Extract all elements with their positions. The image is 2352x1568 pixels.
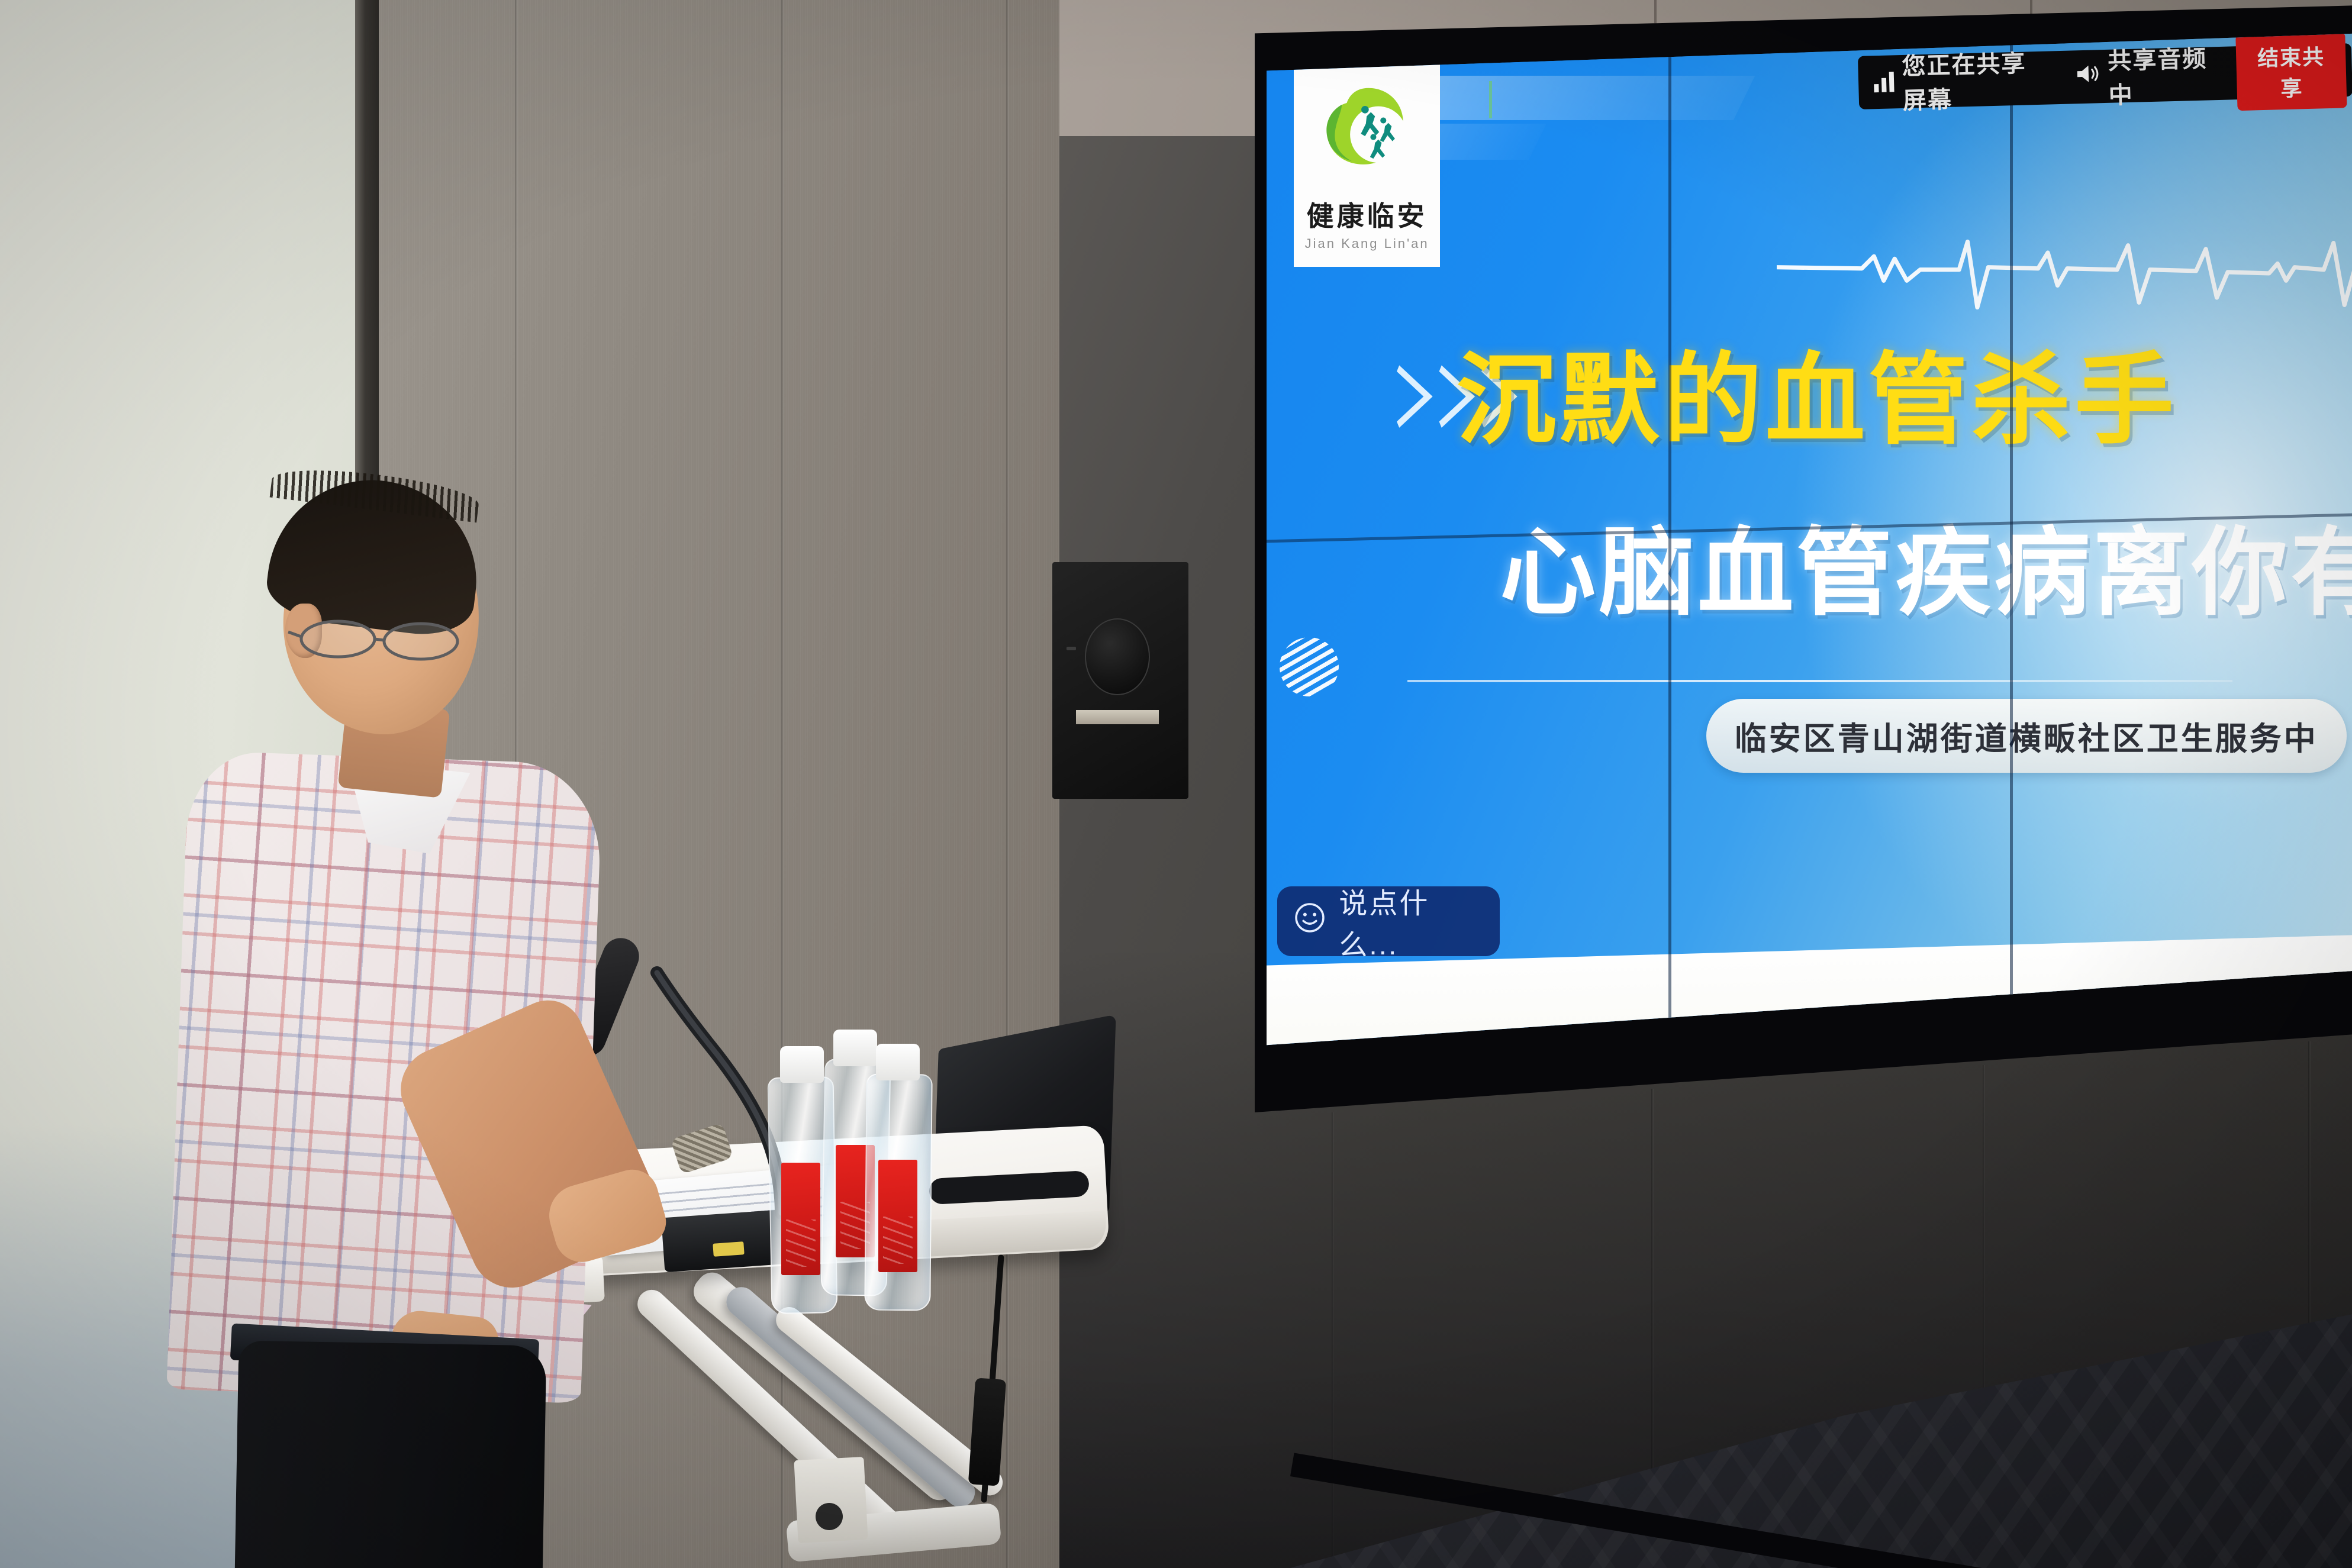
scene-root: 沉默的血管杀手 心脑血管疾病离你有多远 临安区青山湖街道横畈社区卫生服务中 说点… [0,0,2352,1568]
striped-circle-decoration [1280,637,1339,696]
screen-share-toolbar: 您正在共享屏幕 共享音频中 结束共享 [1857,43,2352,109]
bottle-cap [833,1030,877,1066]
health-leaf-people-logo-icon [1317,65,1416,192]
bottle-label [878,1160,917,1272]
videowall-seam-vertical [2010,18,2013,1077]
bottle-cap [876,1044,920,1080]
signal-bars-icon [1873,72,1894,92]
wall-seam [1006,0,1009,1568]
sharing-status-group: 您正在共享屏幕 [1873,43,2052,117]
eyeglasses-icon [287,611,482,664]
smiley-face-icon[interactable] [1294,902,1326,941]
chat-input-bubble[interactable]: 说点什么... [1277,886,1500,956]
presenter-trousers [235,1340,547,1568]
audio-status-group: 共享音频中 [2074,39,2214,111]
audio-status-label: 共享音频中 [2107,39,2214,111]
health-linan-logo: 健康临安 Jian Kang Lin'an [1294,50,1441,267]
organization-label: 临安区青山湖街道横畈社区卫生服务中 [1735,712,2318,759]
logo-name-pinyin: Jian Kang Lin'an [1305,236,1429,251]
wall-power-socket [794,1457,868,1543]
presentation-slide: 沉默的血管杀手 心脑血管疾病离你有多远 临安区青山湖街道横畈社区卫生服务中 说点… [1267,18,2352,1077]
chat-placeholder-text: 说点什么... [1339,880,1483,963]
videowall-seam-vertical [1668,18,1671,1077]
slide-decor-tick [1489,81,1492,118]
organization-pill: 临安区青山湖街道横畈社区卫生服务中 [1706,699,2347,773]
slide-divider-line [1407,680,2232,682]
logo-name-cn: 健康临安 [1307,195,1428,234]
speaker-icon [2074,63,2100,90]
slide-subtitle: 心脑血管疾病离你有多远 [1500,495,2352,634]
conference-camera-unit [1052,562,1188,799]
presenter [195,485,645,1568]
microphone-badge-icon [713,1241,744,1257]
camera-indicator-icon [1067,647,1076,650]
bottle-label [781,1163,820,1275]
sharing-status-label: 您正在共享屏幕 [1901,43,2052,116]
stop-share-button[interactable]: 结束共享 [2235,32,2347,111]
camera-label-strip [1076,710,1159,724]
socket-hole-icon [816,1503,843,1530]
camera-lens-icon [1085,618,1150,695]
video-wall-display[interactable]: 沉默的血管杀手 心脑血管疾病离你有多远 临安区青山湖街道横畈社区卫生服务中 说点… [1267,18,2352,1077]
slide-main-title: 沉默的血管杀手 [1457,320,2177,463]
bottle-cap [780,1046,824,1083]
